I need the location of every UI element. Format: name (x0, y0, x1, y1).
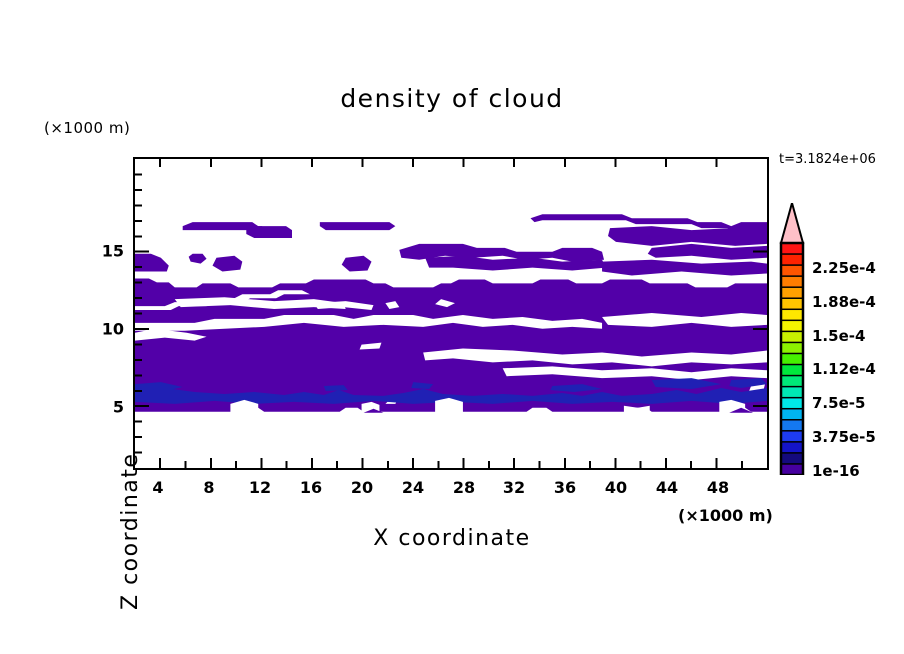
colorbar-swatch (781, 287, 803, 299)
colorbar-arrow-head (781, 203, 803, 243)
colorbar-swatch (781, 276, 803, 288)
colorbar-swatch (781, 342, 803, 354)
colorbar-swatch (781, 353, 803, 365)
colorbar-tick-label: 2.25e-4 (812, 259, 876, 277)
x-tick-label: 40 (605, 478, 627, 497)
x-tick-label: 20 (351, 478, 373, 497)
page-title: density of cloud (0, 84, 904, 113)
colorbar-swatch (781, 265, 803, 277)
x-axis-units-label: (×1000 m) (678, 506, 773, 525)
y-axis-title: Z coordinate (118, 360, 143, 610)
y-tick-label: 10 (96, 320, 124, 339)
colorbar-swatch (781, 254, 803, 266)
colorbar-tick-label: 3.75e-5 (812, 428, 876, 446)
plot-area (133, 157, 769, 470)
x-tick-label: 8 (203, 478, 214, 497)
x-tick-label: 44 (656, 478, 678, 497)
colorbar-swatch (781, 365, 803, 377)
colorbar-swatch (781, 331, 803, 343)
colorbar-tick-label: 1.88e-4 (812, 293, 876, 311)
colorbar-tick-label: 1.12e-4 (812, 360, 876, 378)
cloud-low-patch-6 (324, 385, 348, 391)
x-tick-label: 12 (249, 478, 271, 497)
x-tick-label: 24 (402, 478, 424, 497)
x-tick-label: 16 (300, 478, 322, 497)
y-tick-label: 15 (96, 242, 124, 261)
colorbar-swatch (781, 453, 803, 465)
colorbar-tick-label: 1.5e-4 (812, 327, 865, 345)
colorbar-tick-label: 7.5e-5 (812, 394, 865, 412)
colorbar-swatch (781, 243, 803, 255)
contour-field (135, 159, 767, 468)
colorbar-swatch (781, 387, 803, 399)
colorbar-swatch (781, 320, 803, 332)
colorbar-swatch (781, 442, 803, 454)
colorbar-swatch (781, 409, 803, 421)
y-axis-units-label: (×1000 m) (44, 119, 130, 137)
x-tick-label: 4 (152, 478, 163, 497)
time-annotation: t=3.1824e+06 (779, 152, 876, 167)
x-tick-label: 36 (554, 478, 576, 497)
colorbar-swatch (781, 376, 803, 388)
colorbar-swatch (781, 298, 803, 310)
below-cloud-white (135, 413, 767, 468)
x-tick-label: 48 (707, 478, 729, 497)
x-tick-label: 32 (503, 478, 525, 497)
colorbar-swatch (781, 309, 803, 321)
x-tick-label: 28 (453, 478, 475, 497)
colorbar-tick-label: 1e-16 (812, 462, 860, 480)
cloud-filament-2 (246, 226, 292, 238)
cloud-filament-3 (320, 222, 396, 230)
colorbar-swatch (781, 464, 803, 475)
colorbar-swatch (781, 420, 803, 432)
colorbar (778, 203, 806, 475)
colorbar-swatches (778, 203, 806, 475)
colorbar-swatch (781, 398, 803, 410)
colorbar-swatch (781, 431, 803, 443)
